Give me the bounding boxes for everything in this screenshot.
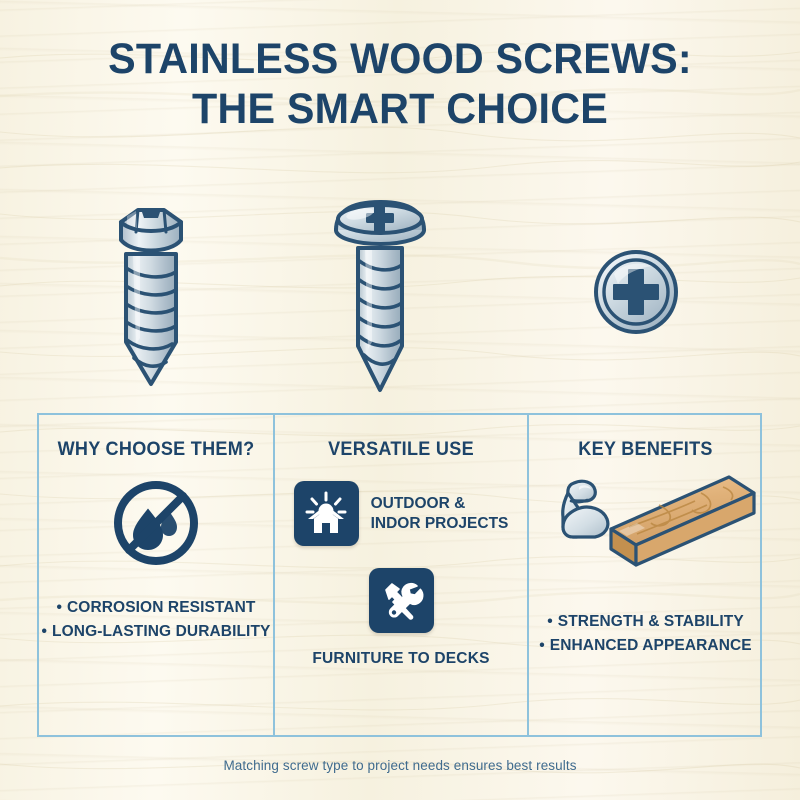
infographic-poster: STAINLESS WOOD SCREWS: THE SMART CHOICE [0, 0, 800, 800]
screw-head-top-icon [588, 244, 684, 345]
benefit-list-corrosion: •CORROSION RESISTANT •LONG-LASTING DURAB… [39, 596, 273, 644]
no-water-corrosion-icon [39, 475, 273, 576]
use-caption-furniture-decks: FURNITURE TO DECKS [275, 650, 527, 668]
column-key-benefits: KEY BENEFITS [529, 413, 762, 737]
page-title: STAINLESS WOOD SCREWS: THE SMART CHOICE [0, 34, 800, 134]
column-title-why-choose-them: WHY CHOOSE THEM? [45, 439, 267, 461]
list-item: •CORROSION RESISTANT [39, 596, 273, 620]
list-item-label: STRENGTH & STABILITY [558, 613, 744, 630]
column-versatile-use: VERSATILE USE [275, 413, 527, 737]
list-item-label: CORROSION RESISTANT [67, 599, 255, 616]
bullet-marker: • [56, 599, 62, 616]
column-title-key-benefits: KEY BENEFITS [535, 439, 756, 461]
bullet-marker: • [547, 613, 553, 630]
use-label-outdoor-indoor: OUTDOOR & INDOR PROJECTS [371, 494, 509, 534]
use-label-line-2: INDOR PROJECTS [371, 514, 509, 534]
flexing-arm-wood-plank-icon [529, 471, 762, 592]
column-title-versatile-use: VERSATILE USE [281, 439, 520, 461]
list-item-label: LONG-LASTING DURABILITY [52, 623, 270, 640]
screw-pan-icon [320, 186, 440, 401]
hero-screw-illustrations [0, 186, 800, 401]
list-item: •STRENGTH & STABILITY [529, 610, 762, 634]
list-item: •ENHANCED APPEARANCE [529, 634, 762, 658]
benefit-list-strength: •STRENGTH & STABILITY •ENHANCED APPEARAN… [529, 610, 762, 658]
bullet-marker: • [42, 623, 48, 640]
footer-note: Matching screw type to project needs ens… [0, 758, 800, 773]
title-line-2: THE SMART CHOICE [16, 84, 784, 134]
list-item: •LONG-LASTING DURABILITY [39, 620, 273, 644]
use-row-furniture-decks [275, 568, 527, 633]
house-sun-icon [294, 481, 359, 546]
title-line-1: STAINLESS WOOD SCREWS: [16, 34, 784, 84]
screw-hex-icon [96, 192, 206, 397]
use-row-outdoor-indoor: OUTDOOR & INDOR PROJECTS [275, 481, 527, 546]
hammer-wrench-icon [369, 568, 434, 633]
bullet-marker: • [539, 637, 545, 654]
list-item-label: ENHANCED APPEARANCE [550, 637, 752, 654]
use-label-line-1: OUTDOOR & [371, 494, 509, 514]
column-why-choose-them: WHY CHOOSE THEM? •CORROSION RESISTANT [39, 413, 273, 737]
